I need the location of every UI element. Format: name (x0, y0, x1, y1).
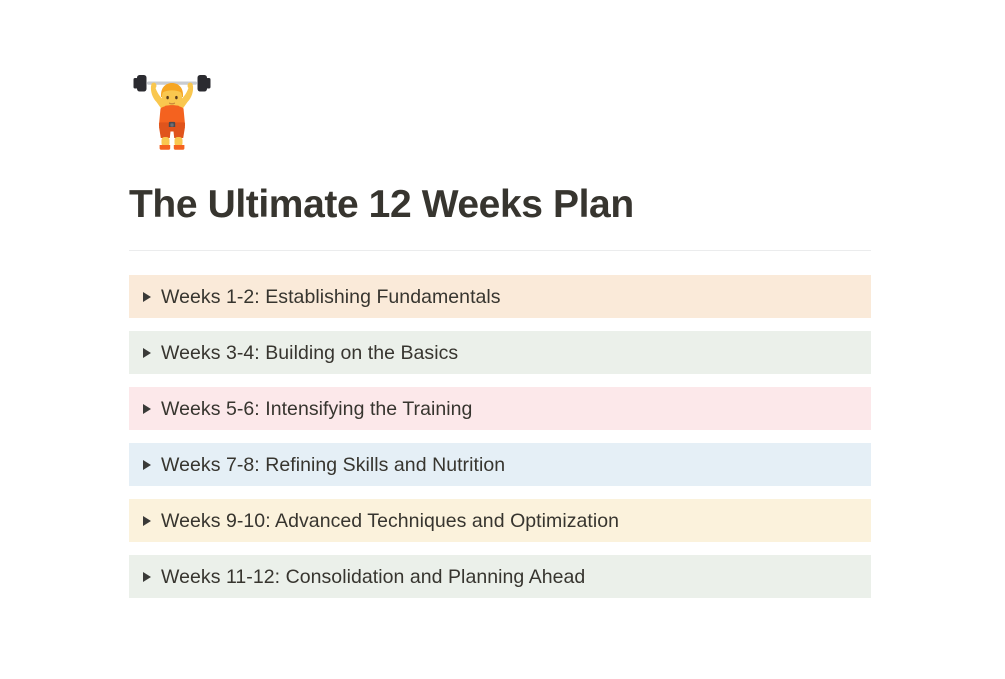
toggle-arrow-right-icon[interactable] (138, 400, 156, 418)
toggle-item-label: Weeks 5-6: Intensifying the Training (161, 396, 472, 422)
toggle-arrow-right-icon[interactable] (138, 344, 156, 362)
toggle-arrow-right-icon[interactable] (138, 456, 156, 474)
toggle-item-weeks-1-2[interactable]: Weeks 1-2: Establishing Fundamentals (129, 275, 871, 318)
weight-lifter-icon[interactable] (129, 64, 215, 150)
toggle-list: Weeks 1-2: Establishing Fundamentals Wee… (129, 275, 871, 598)
toggle-arrow-right-icon[interactable] (138, 512, 156, 530)
page-title: The Ultimate 12 Weeks Plan (129, 181, 871, 228)
toggle-item-weeks-5-6[interactable]: Weeks 5-6: Intensifying the Training (129, 387, 871, 430)
toggle-item-label: Weeks 1-2: Establishing Fundamentals (161, 284, 501, 310)
toggle-item-weeks-9-10[interactable]: Weeks 9-10: Advanced Techniques and Opti… (129, 499, 871, 542)
toggle-item-label: Weeks 9-10: Advanced Techniques and Opti… (161, 508, 619, 534)
toggle-item-weeks-11-12[interactable]: Weeks 11-12: Consolidation and Planning … (129, 555, 871, 598)
toggle-item-label: Weeks 7-8: Refining Skills and Nutrition (161, 452, 505, 478)
page-content: The Ultimate 12 Weeks Plan Weeks 1-2: Es… (129, 0, 871, 598)
toggle-item-weeks-7-8[interactable]: Weeks 7-8: Refining Skills and Nutrition (129, 443, 871, 486)
title-divider (129, 250, 871, 251)
toggle-item-label: Weeks 11-12: Consolidation and Planning … (161, 564, 585, 590)
document-page: The Ultimate 12 Weeks Plan Weeks 1-2: Es… (0, 0, 1005, 679)
toggle-item-label: Weeks 3-4: Building on the Basics (161, 340, 458, 366)
toggle-arrow-right-icon[interactable] (138, 568, 156, 586)
toggle-arrow-right-icon[interactable] (138, 288, 156, 306)
toggle-item-weeks-3-4[interactable]: Weeks 3-4: Building on the Basics (129, 331, 871, 374)
